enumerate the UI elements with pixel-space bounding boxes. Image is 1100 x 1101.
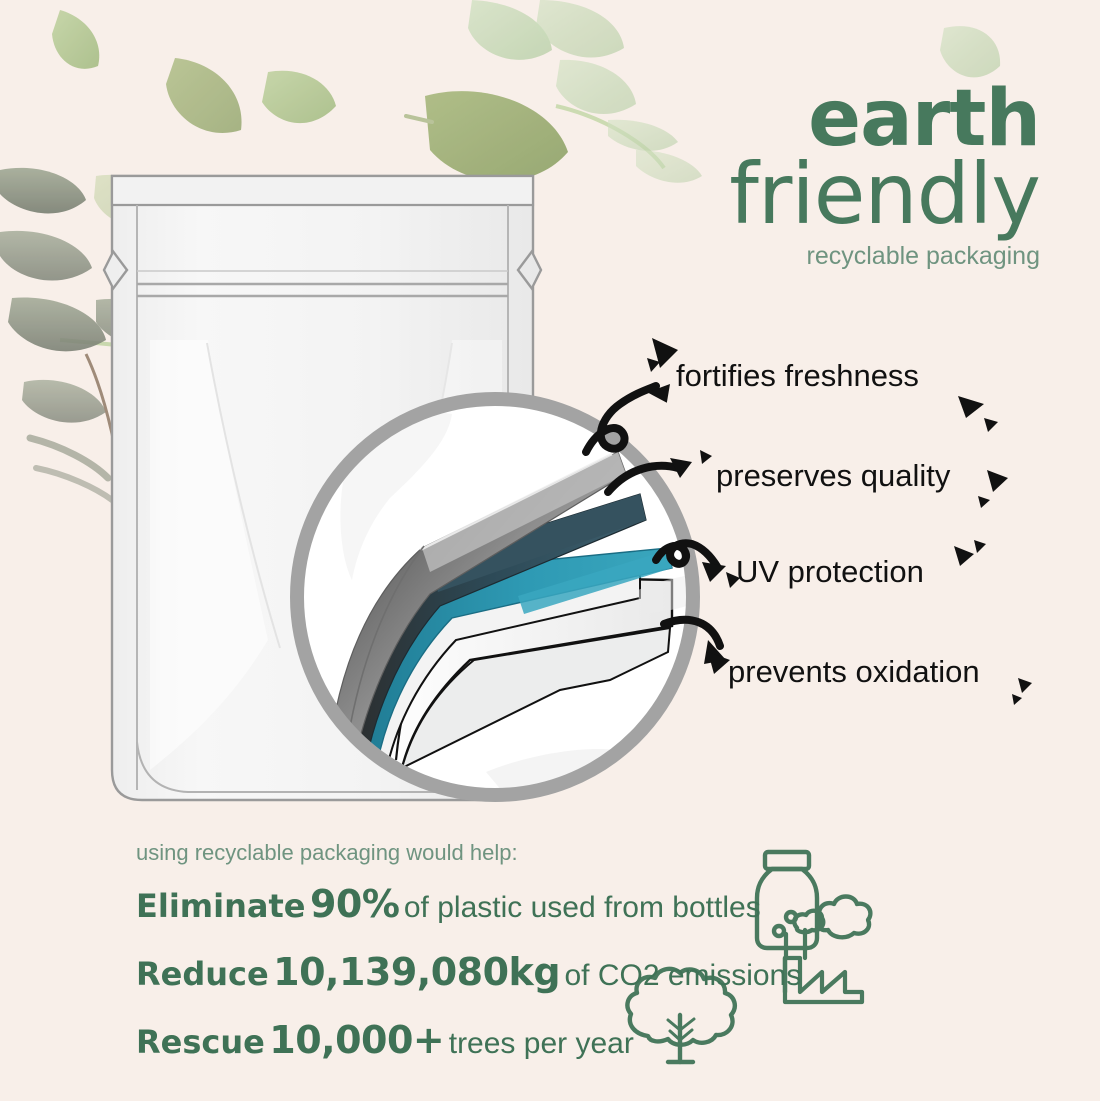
stats-block: using recyclable packaging would help: E… bbox=[136, 840, 936, 1082]
stat-number-0: 90% bbox=[310, 882, 399, 926]
stat-verb-0: Eliminate bbox=[136, 887, 305, 925]
stat-row-eliminate: Eliminate 90% of plastic used from bottl… bbox=[136, 882, 936, 926]
stats-intro-label: using recyclable packaging would help: bbox=[136, 840, 936, 866]
stat-tail-0: of plastic used from bottles bbox=[404, 891, 761, 924]
stat-verb-1: Reduce bbox=[136, 955, 269, 993]
stat-number-2: 10,000+ bbox=[269, 1018, 444, 1062]
stat-tail-2: trees per year bbox=[449, 1027, 634, 1060]
infographic-canvas: earth friendly recyclable packaging fort… bbox=[0, 0, 1100, 1101]
stat-number-1: 10,139,080kg bbox=[273, 950, 560, 994]
stat-row-reduce: Reduce 10,139,080kg of CO2 emissions bbox=[136, 950, 936, 994]
stat-row-rescue: Rescue 10,000+ trees per year bbox=[136, 1018, 936, 1062]
stat-tail-1: of CO2 emissions bbox=[564, 959, 801, 992]
stat-verb-2: Rescue bbox=[136, 1023, 265, 1061]
